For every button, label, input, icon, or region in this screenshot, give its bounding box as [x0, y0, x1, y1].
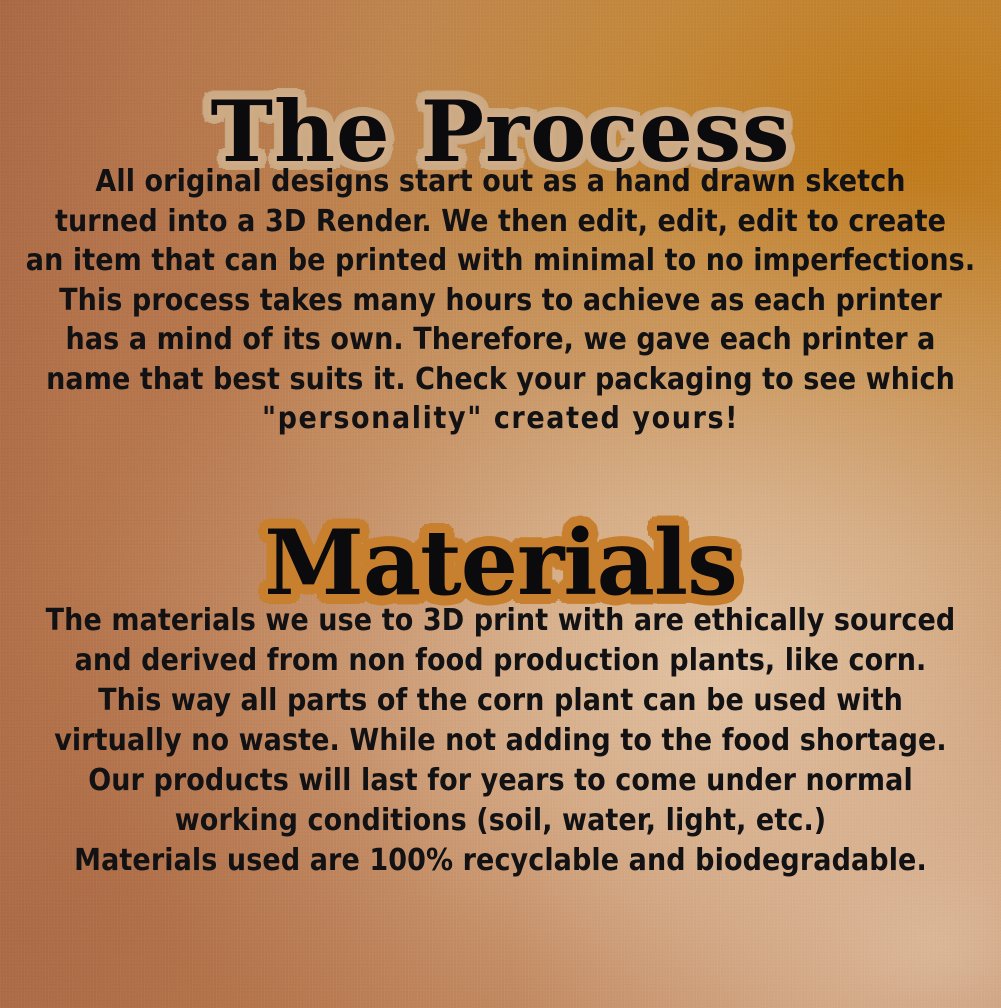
body-line: working conditions (soil, water, light, … — [0, 801, 1001, 841]
body-line: This way all parts of the corn plant can… — [0, 681, 1001, 721]
body-line: "personality" created yours! — [0, 399, 1001, 439]
body-line: Materials used are 100% recyclable and b… — [0, 841, 1001, 881]
body-line: an item that can be printed with minimal… — [0, 241, 1001, 281]
body-text-the-process: All original designs start out as a hand… — [0, 162, 1001, 439]
product-info-card: The Process All original designs start o… — [0, 0, 1001, 1008]
body-line: name that best suits it. Check your pack… — [0, 360, 1001, 400]
body-line: virtually no waste. While not adding to … — [0, 721, 1001, 761]
body-line: turned into a 3D Render. We then edit, e… — [0, 202, 1001, 242]
body-text-materials: The materials we use to 3D print with ar… — [0, 601, 1001, 881]
heading-materials: Materials — [0, 518, 1001, 608]
body-line: has a mind of its own. Therefore, we gav… — [0, 320, 1001, 360]
body-line: Our products will last for years to come… — [0, 761, 1001, 801]
body-line: This process takes many hours to achieve… — [0, 281, 1001, 321]
body-line: The materials we use to 3D print with ar… — [0, 601, 1001, 641]
body-line: and derived from non food production pla… — [0, 641, 1001, 681]
body-line: All original designs start out as a hand… — [0, 162, 1001, 202]
card-content: The Process All original designs start o… — [0, 0, 1001, 1008]
